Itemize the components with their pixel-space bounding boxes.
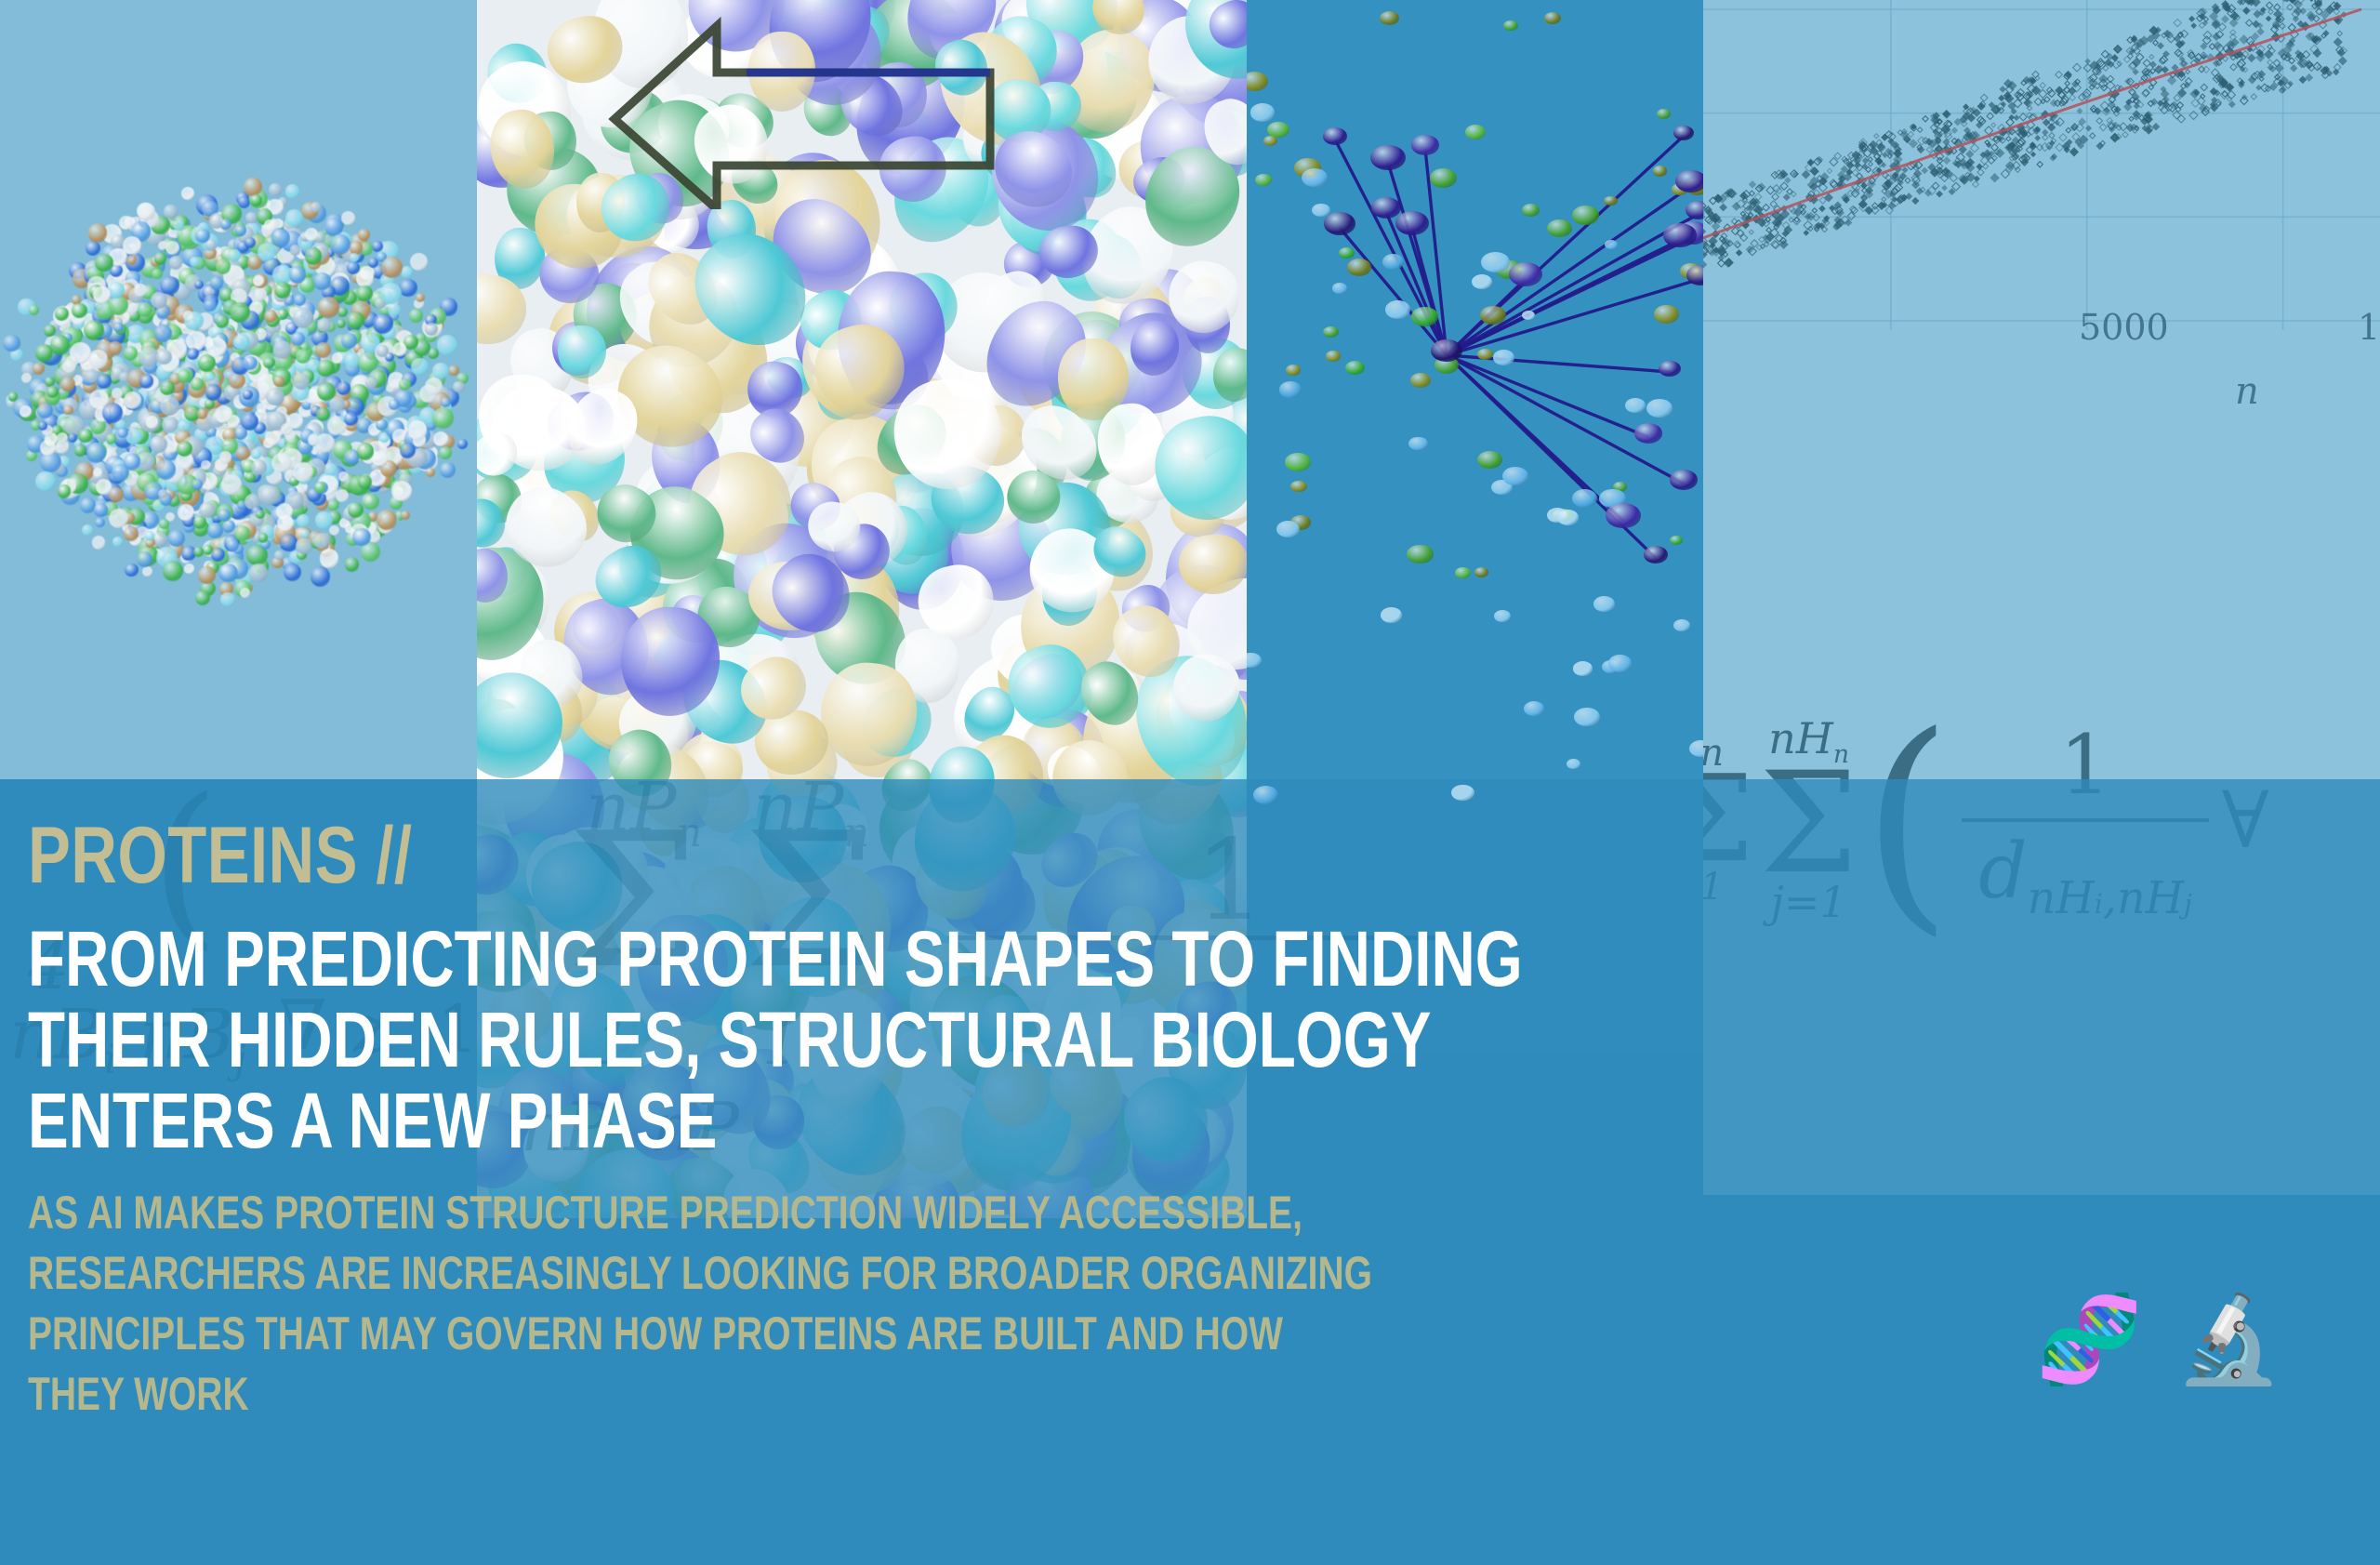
topic-icon-row: 🧬 🔬	[2036, 1297, 2265, 1386]
xtick-label-5000: 5000	[2079, 307, 2169, 348]
hero-text-block: PROTEINS // FROM PREDICTING PROTEIN SHAP…	[28, 818, 1608, 1425]
xtick-label-10000: 10	[2358, 307, 2380, 348]
xaxis-label: n	[2235, 370, 2259, 413]
subhead-line-1: AS AI MAKES PROTEIN STRUCTURE PREDICTION…	[28, 1183, 1261, 1243]
kicker-label: PROTEINS //	[28, 818, 1292, 895]
headline-line-3: ENTERS A NEW PHASE	[28, 1081, 1261, 1161]
dna-emoji: 🧬	[2036, 1297, 2125, 1386]
headline-line-1: FROM PREDICTING PROTEIN SHAPES TO FINDIN…	[28, 919, 1261, 1000]
subhead-line-4: THEY WORK	[28, 1364, 1261, 1425]
article-hero-banner: 5000 10 n n Σ 1 nHn Σ j=1 ( 1	[0, 0, 2380, 1565]
left-arrow-icon	[607, 9, 998, 209]
standfirst-deck: AS AI MAKES PROTEIN STRUCTURE PREDICTION…	[28, 1183, 1261, 1425]
protein-spacefill-render	[0, 0, 477, 779]
page-title: FROM PREDICTING PROTEIN SHAPES TO FINDIN…	[28, 919, 1261, 1162]
microscope-emoji: 🔬	[2175, 1297, 2265, 1386]
headline-line-2: THEIR HIDDEN RULES, STRUCTURAL BIOLOGY	[28, 1000, 1261, 1081]
scatter-plot-svg	[1703, 0, 2380, 651]
subhead-line-3: PRINCIPLES THAT MAY GOVERN HOW PROTEINS …	[28, 1304, 1261, 1364]
protein-atom-cluster	[34, 194, 443, 585]
subhead-line-2: RESEARCHERS ARE INCREASINGLY LOOKING FOR…	[28, 1243, 1261, 1304]
